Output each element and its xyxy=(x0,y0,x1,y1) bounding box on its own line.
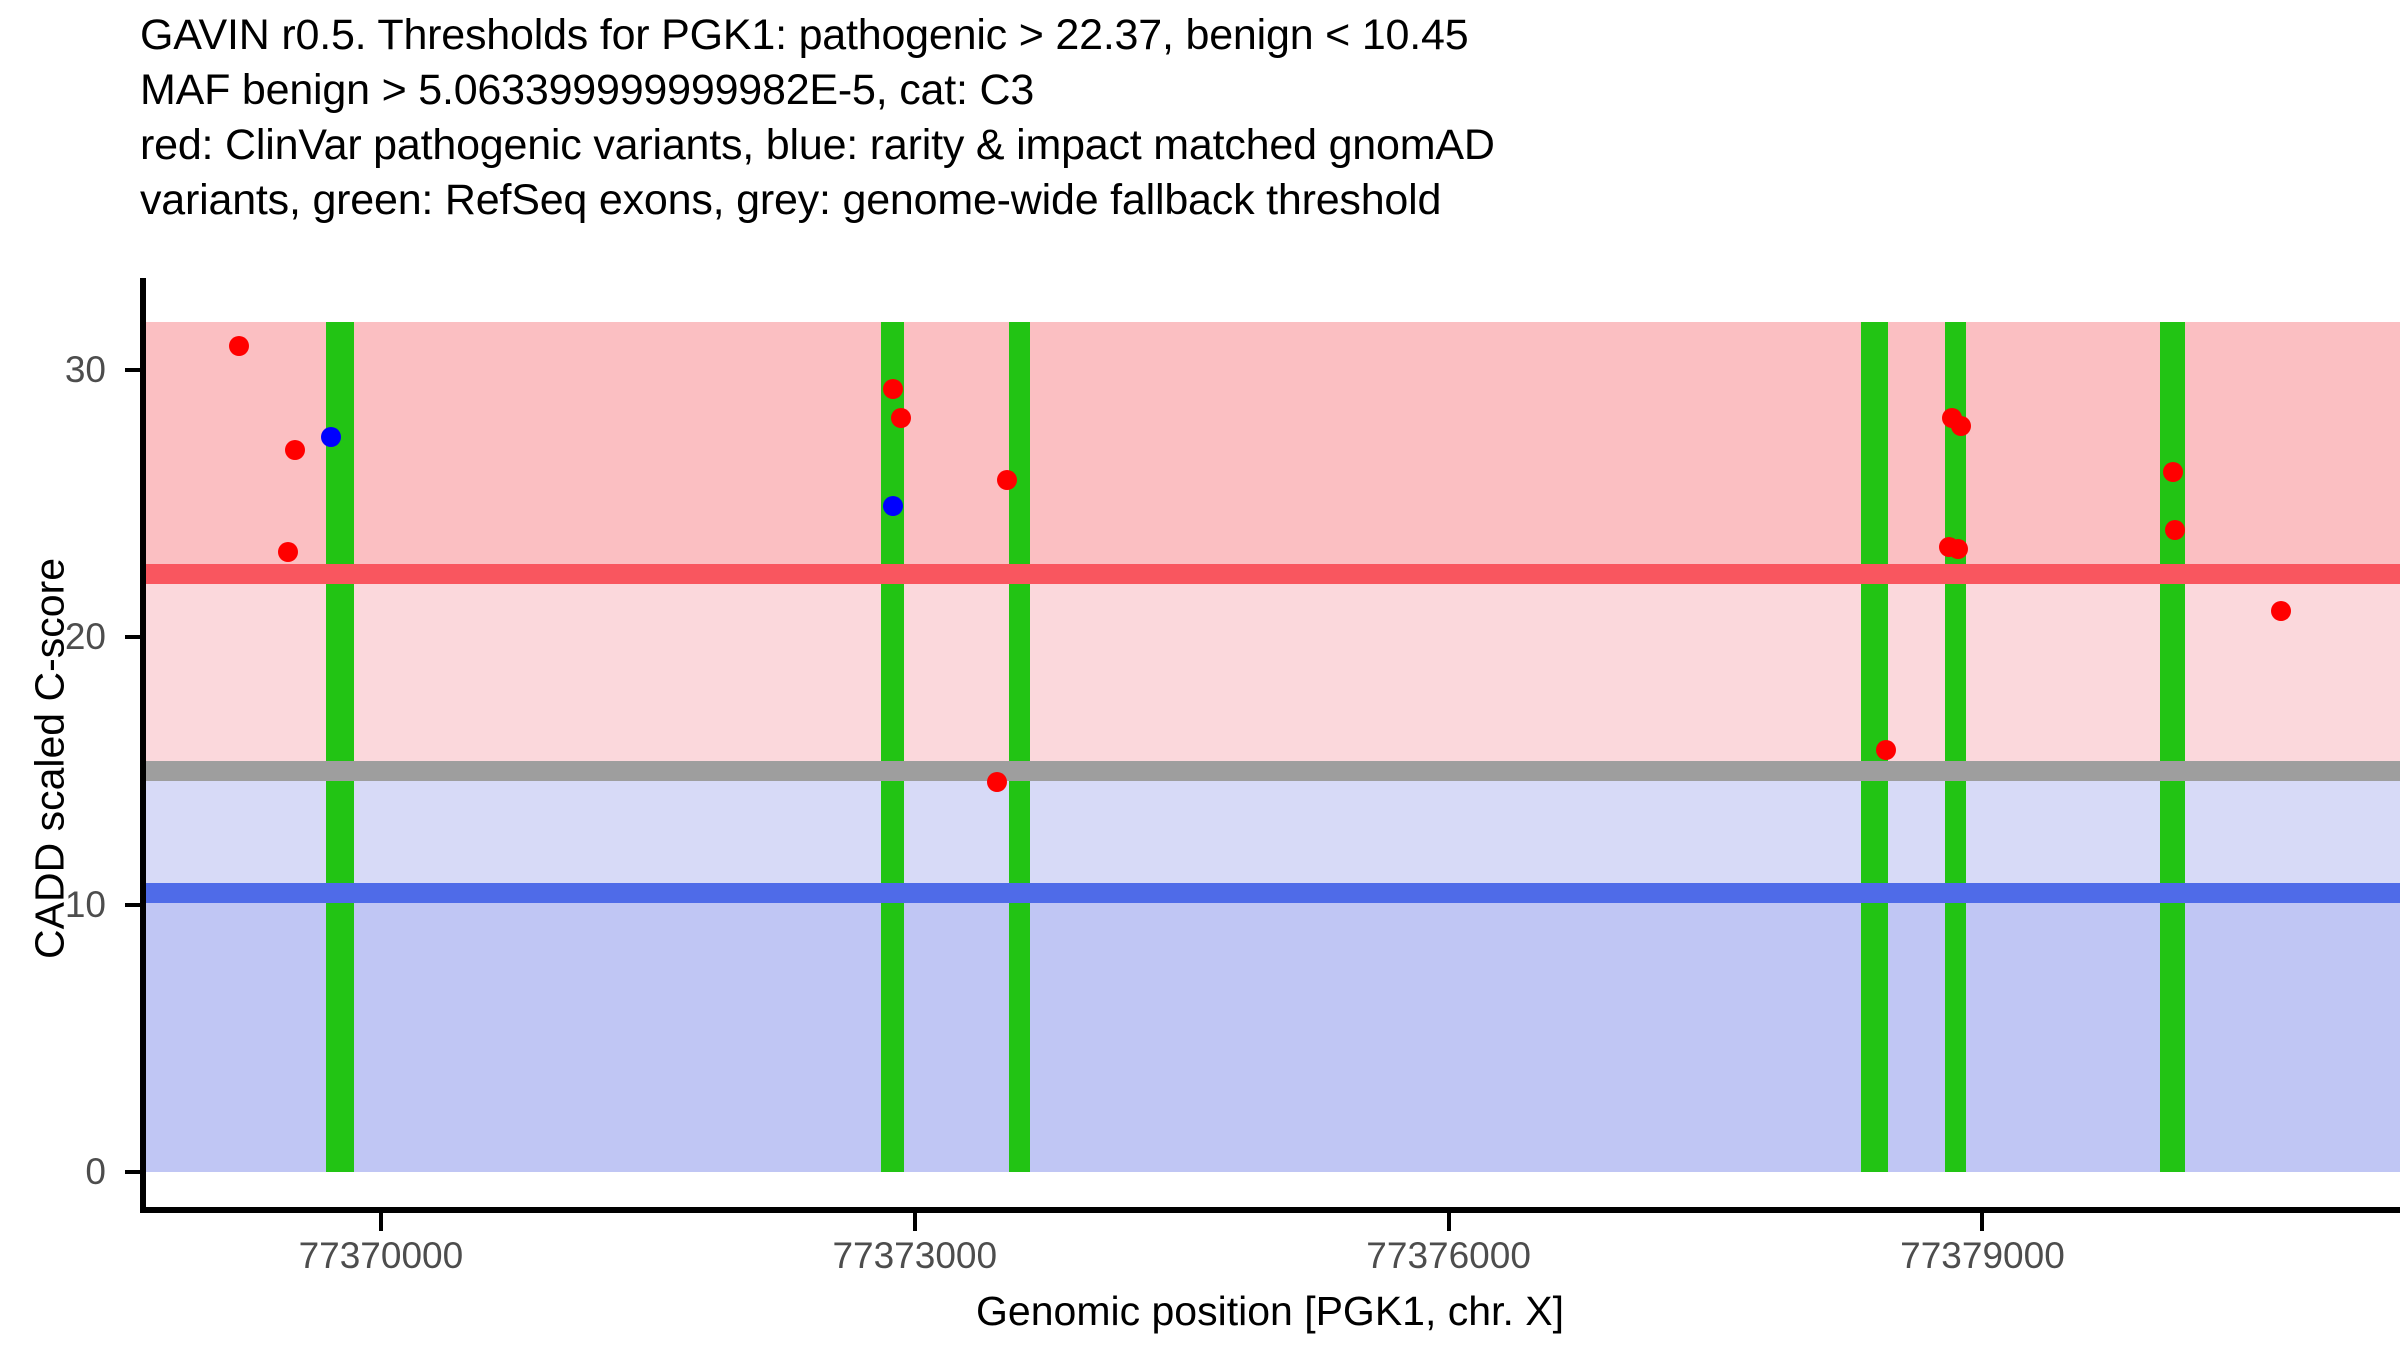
x-tick-label: 77376000 xyxy=(1366,1235,1531,1277)
fallback-threshold-line xyxy=(146,761,2400,781)
y-tick-mark xyxy=(125,635,146,639)
exon-bar xyxy=(326,322,354,1172)
y-tick-label: 0 xyxy=(0,1151,106,1193)
band-ambiguous-upper xyxy=(146,574,2400,771)
x-tick-label: 77379000 xyxy=(1900,1235,2065,1277)
clinvar-variant-point xyxy=(2271,601,2291,621)
title-line-3: red: ClinVar pathogenic variants, blue: … xyxy=(140,118,2340,173)
exon-bar xyxy=(881,322,904,1172)
exon-bar xyxy=(1945,322,1966,1172)
plot-panel: 0102030 77370000773730007737600077379000 xyxy=(140,278,2400,1213)
x-tick-mark xyxy=(913,1213,917,1231)
clinvar-variant-point xyxy=(1876,740,1896,760)
benign-threshold-line xyxy=(146,883,2400,903)
title-line-2: MAF benign > 5.063399999999982E-5, cat: … xyxy=(140,63,2340,118)
x-axis-title: Genomic position [PGK1, chr. X] xyxy=(140,1288,2400,1335)
plot-area xyxy=(146,322,2400,1172)
band-benign xyxy=(146,893,2400,1172)
clinvar-variant-point xyxy=(229,336,249,356)
x-tick-mark xyxy=(1447,1213,1451,1231)
clinvar-variant-point xyxy=(2163,462,2183,482)
gnomad-variant-point xyxy=(321,427,341,447)
y-tick-mark xyxy=(125,903,146,907)
y-tick-mark xyxy=(125,368,146,372)
y-tick-label: 30 xyxy=(0,349,106,391)
chart-root: GAVIN r0.5. Thresholds for PGK1: pathoge… xyxy=(0,0,2400,1350)
y-tick-label: 10 xyxy=(0,884,106,926)
title-line-4: variants, green: RefSeq exons, grey: gen… xyxy=(140,173,2340,228)
chart-title: GAVIN r0.5. Thresholds for PGK1: pathoge… xyxy=(140,8,2340,228)
y-axis-title: CADD scaled C-score xyxy=(27,409,74,1109)
x-tick-mark xyxy=(379,1213,383,1231)
x-tick-label: 77370000 xyxy=(299,1235,464,1277)
title-line-1: GAVIN r0.5. Thresholds for PGK1: pathoge… xyxy=(140,8,2340,63)
band-pathogenic xyxy=(146,322,2400,574)
pathogenic-threshold-line xyxy=(146,564,2400,584)
y-tick-mark xyxy=(125,1170,146,1174)
x-tick-label: 77373000 xyxy=(832,1235,997,1277)
exon-bar xyxy=(1009,322,1030,1172)
x-tick-mark xyxy=(1980,1213,1984,1231)
clinvar-variant-point xyxy=(987,772,1007,792)
exon-bar xyxy=(2160,322,2185,1172)
clinvar-variant-point xyxy=(997,470,1017,490)
clinvar-variant-point xyxy=(1948,539,1968,559)
clinvar-variant-point xyxy=(891,408,911,428)
y-tick-label: 20 xyxy=(0,616,106,658)
band-ambiguous-lower xyxy=(146,771,2400,893)
